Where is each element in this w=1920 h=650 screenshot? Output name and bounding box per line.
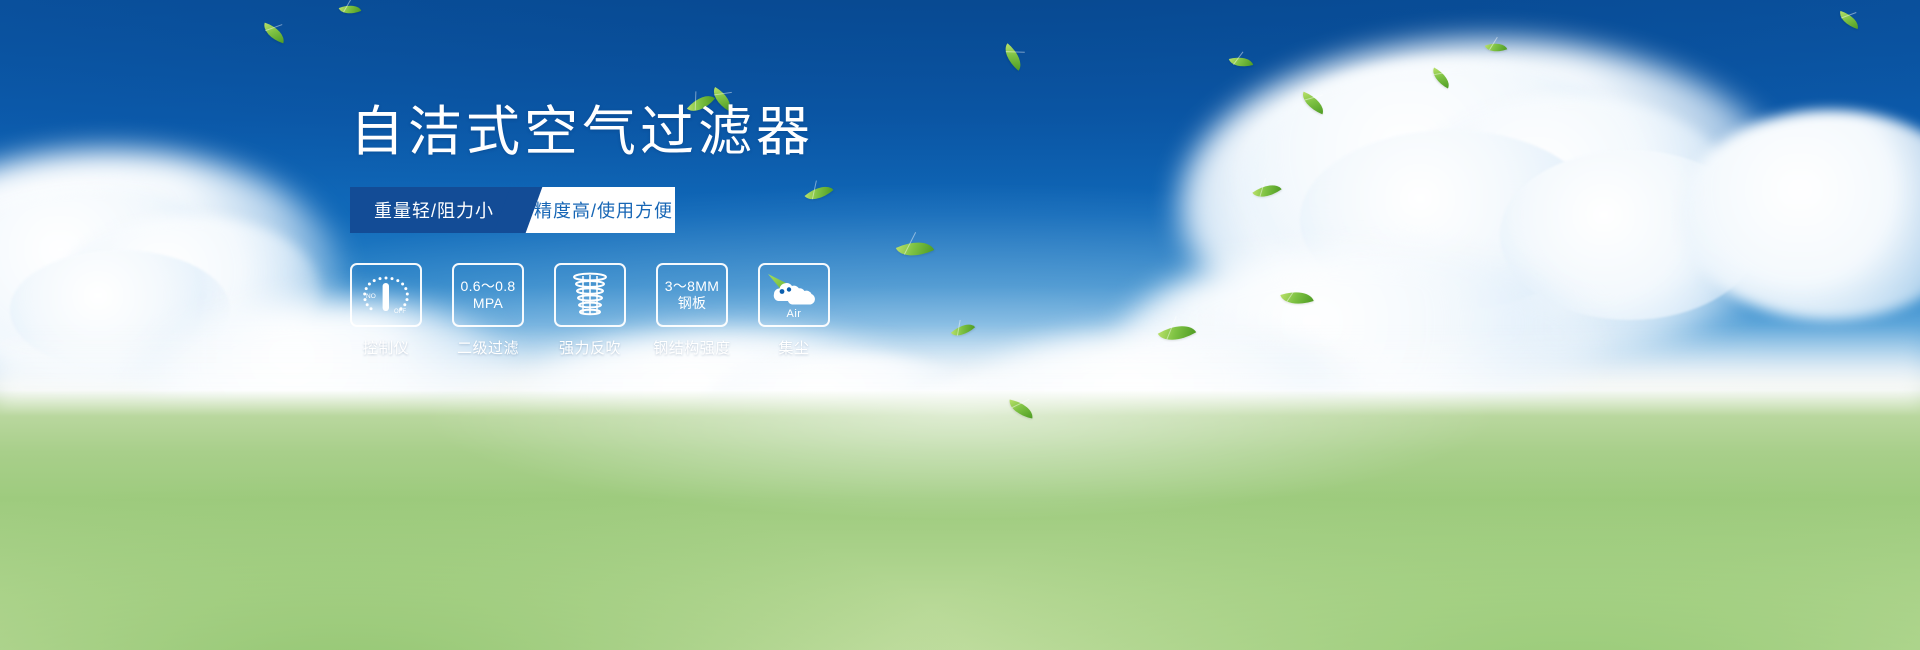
subtitle-right: 精度高/使用方便 [518, 187, 675, 233]
air-label: Air [766, 308, 822, 320]
feature-item-steel: 3～8MM 钢板 钢结构强度 [656, 263, 728, 358]
leaf-icon [260, 23, 287, 44]
feature-item-control: NO OFF 控制仪 [350, 263, 422, 358]
feature-box-line2: MPA [473, 295, 503, 312]
feature-caption: 钢结构强度 [653, 337, 731, 358]
feature-caption: 控制仪 [363, 337, 410, 358]
feature-icon-box: 0.6～0.8 MPA [452, 263, 524, 327]
control-dial-icon: NO OFF [360, 272, 412, 318]
air-cloud-icon: Air [766, 272, 822, 318]
feature-icon-box [554, 263, 626, 327]
subtitle-bar: 重量轻/阻力小 精度高/使用方便 [350, 187, 675, 233]
coil-blowback-icon [570, 271, 610, 319]
svg-text:OFF: OFF [394, 309, 406, 315]
svg-text:NO: NO [366, 293, 376, 300]
feature-item-blowback: 强力反吹 [554, 263, 626, 358]
feature-icon-box: 3～8MM 钢板 [656, 263, 728, 327]
page-title: 自洁式空气过滤器 [350, 104, 1050, 161]
feature-caption: 强力反吹 [559, 337, 621, 358]
feature-box-line2: 钢板 [678, 295, 707, 312]
feature-list: NO OFF 控制仪 0.6～0.8 MPA 二级过滤 [350, 263, 1050, 358]
feature-box-line1: 0.6～0.8 [460, 278, 515, 295]
feature-caption: 集尘 [778, 337, 809, 358]
feature-item-dust: Air 集尘 [758, 263, 830, 358]
feature-icon-box: Air [758, 263, 830, 327]
leaf-icon [1229, 53, 1253, 70]
product-banner: 自洁式空气过滤器 重量轻/阻力小 精度高/使用方便 [0, 0, 1920, 650]
subtitle-left: 重量轻/阻力小 [350, 187, 518, 233]
banner-content: 自洁式空气过滤器 重量轻/阻力小 精度高/使用方便 [350, 104, 1050, 358]
grass-field [0, 390, 1920, 650]
feature-icon-box: NO OFF [350, 263, 422, 327]
leaf-icon [999, 43, 1028, 70]
feature-item-pressure: 0.6～0.8 MPA 二级过滤 [452, 263, 524, 358]
feature-caption: 二级过滤 [457, 337, 519, 358]
leaf-icon [1837, 11, 1862, 29]
leaf-icon [339, 1, 362, 19]
feature-box-line1: 3～8MM [665, 278, 719, 295]
